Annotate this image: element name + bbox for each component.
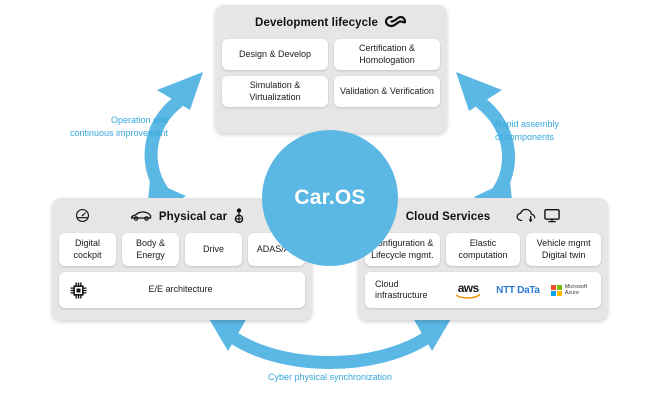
monitor-icon bbox=[544, 208, 560, 226]
card-validation-verification[interactable]: Validation & Verification bbox=[334, 76, 440, 107]
panel-body-physical-car: Digital cockpit Body & Energy Drive ADAS… bbox=[52, 230, 312, 315]
card-vehicle-mgmt-digital-twin[interactable]: Vehicle mgmt Digital twin bbox=[526, 233, 601, 266]
card-elastic-computation[interactable]: Elastic computation bbox=[446, 233, 521, 266]
panel-title-physical-car: Physical car bbox=[159, 211, 227, 223]
card-simulation-virtualization[interactable]: Simulation & Virtualization bbox=[222, 76, 328, 107]
card-ee-architecture[interactable]: E/E architecture bbox=[59, 272, 305, 308]
card-ee-architecture-label: E/E architecture bbox=[108, 284, 295, 295]
diagram-canvas: Operation and continuous improvement Rap… bbox=[0, 0, 660, 405]
panel-title-cloud-services: Cloud Services bbox=[406, 211, 491, 223]
panel-cloud-services: Cloud Services Configuration & Lifecycle… bbox=[358, 198, 608, 320]
microsoft-squares-icon bbox=[551, 285, 562, 296]
person-icon bbox=[234, 208, 244, 227]
card-certification-homologation[interactable]: Certification & Homologation bbox=[334, 39, 440, 70]
panel-development-lifecycle: Development lifecycle Design & Develop C… bbox=[215, 5, 447, 133]
panel-header-development-lifecycle: Development lifecycle bbox=[215, 5, 447, 36]
microsoft-azure-logo: Microsoft Azure bbox=[551, 284, 587, 297]
arrow-caption-bottom: Cyber physical synchronization bbox=[180, 371, 480, 384]
cloud-services-card-row: Configuration & Lifecycle mgmt. Elastic … bbox=[365, 233, 601, 266]
car-icon bbox=[130, 210, 152, 225]
center-circle-caros: Car.OS bbox=[262, 130, 398, 266]
aws-logo: aws bbox=[451, 282, 485, 299]
gauge-icon bbox=[75, 208, 90, 226]
cloud-provider-logos: aws NTT DaTa Microsoft Azure bbox=[451, 282, 591, 299]
ntt-data-logo: NTT DaTa bbox=[496, 285, 540, 296]
physical-car-card-row: Digital cockpit Body & Energy Drive ADAS… bbox=[59, 233, 305, 266]
infinity-loop-icon bbox=[385, 15, 407, 31]
arrow-caption-left: Operation and continuous improvement bbox=[36, 114, 168, 140]
microchip-icon bbox=[69, 281, 88, 300]
microsoft-azure-logo-text: Microsoft Azure bbox=[565, 284, 587, 297]
lifecycle-card-row-1: Design & Develop Certification & Homolog… bbox=[222, 39, 440, 70]
card-digital-cockpit[interactable]: Digital cockpit bbox=[59, 233, 116, 266]
panel-body-cloud-services: Configuration & Lifecycle mgmt. Elastic … bbox=[358, 230, 608, 315]
card-design-develop[interactable]: Design & Develop bbox=[222, 39, 328, 70]
card-cloud-infrastructure[interactable]: Cloud infrastructure aws NTT DaTa Micros… bbox=[365, 272, 601, 308]
cloud-download-icon bbox=[516, 208, 537, 227]
arrow-caption-right: Rapid assembly of components bbox=[495, 118, 635, 144]
panel-body-development-lifecycle: Design & Develop Certification & Homolog… bbox=[215, 36, 447, 120]
panel-title-development-lifecycle: Development lifecycle bbox=[255, 17, 378, 29]
lifecycle-card-row-2: Simulation & Virtualization Validation &… bbox=[222, 76, 440, 107]
center-circle-label: Car.OS bbox=[294, 186, 365, 210]
card-cloud-infrastructure-label: Cloud infrastructure bbox=[375, 279, 449, 302]
aws-logo-text: aws bbox=[458, 282, 479, 294]
card-drive[interactable]: Drive bbox=[185, 233, 242, 266]
card-body-energy[interactable]: Body & Energy bbox=[122, 233, 179, 266]
